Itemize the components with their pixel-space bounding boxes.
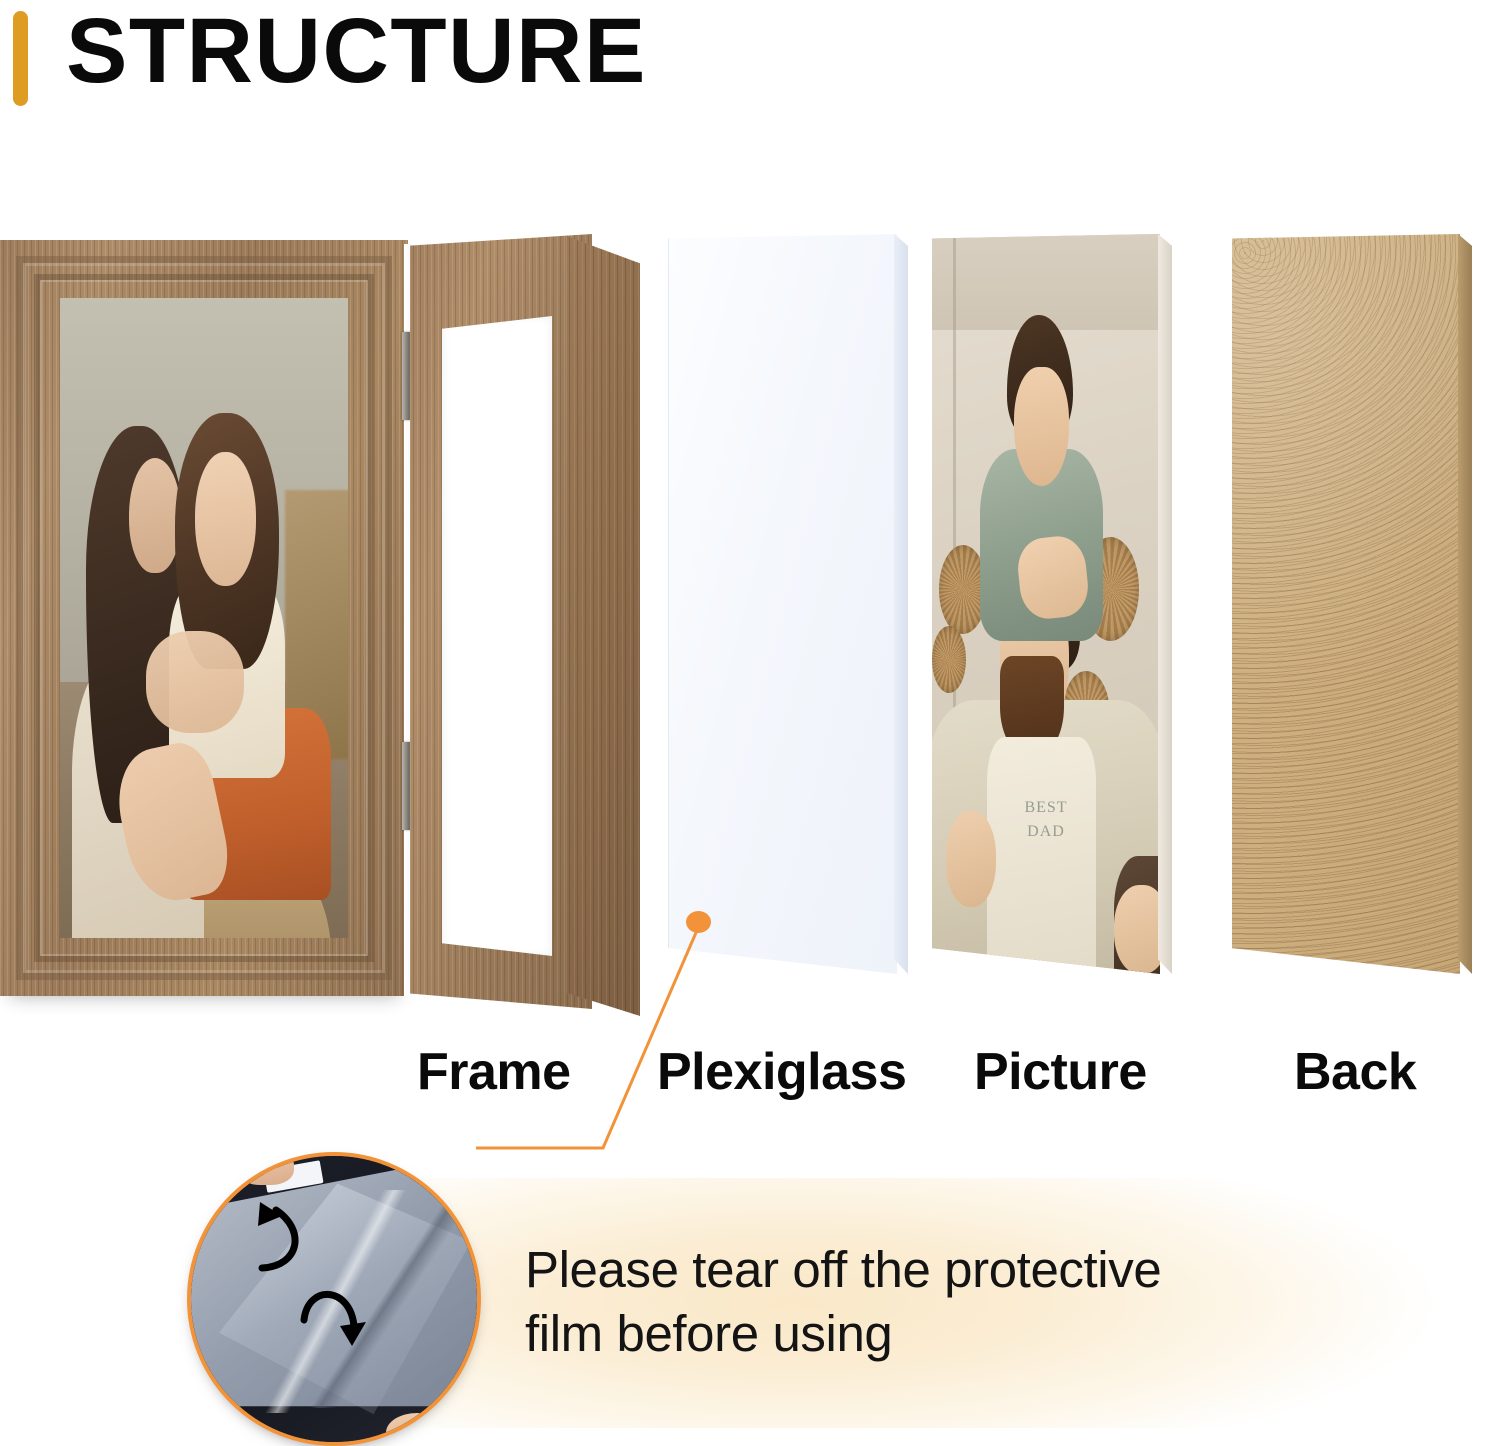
inset-hand-top <box>237 1152 294 1185</box>
frame-left-panel <box>0 240 408 996</box>
mother-daughter-photo <box>60 298 348 938</box>
component-frame[interactable] <box>0 234 640 1014</box>
back-edge <box>1458 234 1472 974</box>
photo-father-hand <box>946 811 996 907</box>
photo-father-tshirt <box>987 737 1096 974</box>
father-boy-photo: BEST DAD <box>932 234 1160 974</box>
component-plexiglass[interactable] <box>668 234 897 974</box>
photo-mother-face <box>129 458 181 573</box>
component-label-plexiglass: Plexiglass <box>657 1042 906 1102</box>
peel-arrow-down-icon <box>294 1282 382 1354</box>
plexiglass-edge <box>894 234 908 974</box>
peel-arrow-up-icon <box>242 1196 332 1276</box>
frame-photo-opening <box>60 298 348 938</box>
photo-father-hand <box>1114 885 1160 974</box>
frame-side-edge <box>566 236 640 1016</box>
component-label-picture: Picture <box>974 1042 1147 1102</box>
frame-right-opening <box>442 316 552 956</box>
rattan-basket <box>932 626 966 693</box>
picture-edge <box>1158 234 1172 974</box>
component-back[interactable] <box>1232 234 1460 974</box>
component-label-frame: Frame <box>417 1042 571 1102</box>
exploded-view-stage: BEST DAD Frame Plexiglass Picture Back <box>0 0 1500 1140</box>
component-picture[interactable]: BEST DAD <box>932 234 1160 974</box>
protective-film-note: Please tear off the protective film befo… <box>525 1238 1325 1367</box>
photo-tshirt-text: BEST DAD <box>1024 796 1067 842</box>
photo-girl-face <box>195 452 255 586</box>
callout-dot[interactable] <box>686 911 711 933</box>
component-label-back: Back <box>1294 1042 1416 1102</box>
photo-hands <box>146 631 244 733</box>
photo-boy-face <box>1014 367 1069 485</box>
protective-film-inset-photo <box>187 1152 481 1446</box>
inset-hand-bottom <box>386 1413 449 1446</box>
